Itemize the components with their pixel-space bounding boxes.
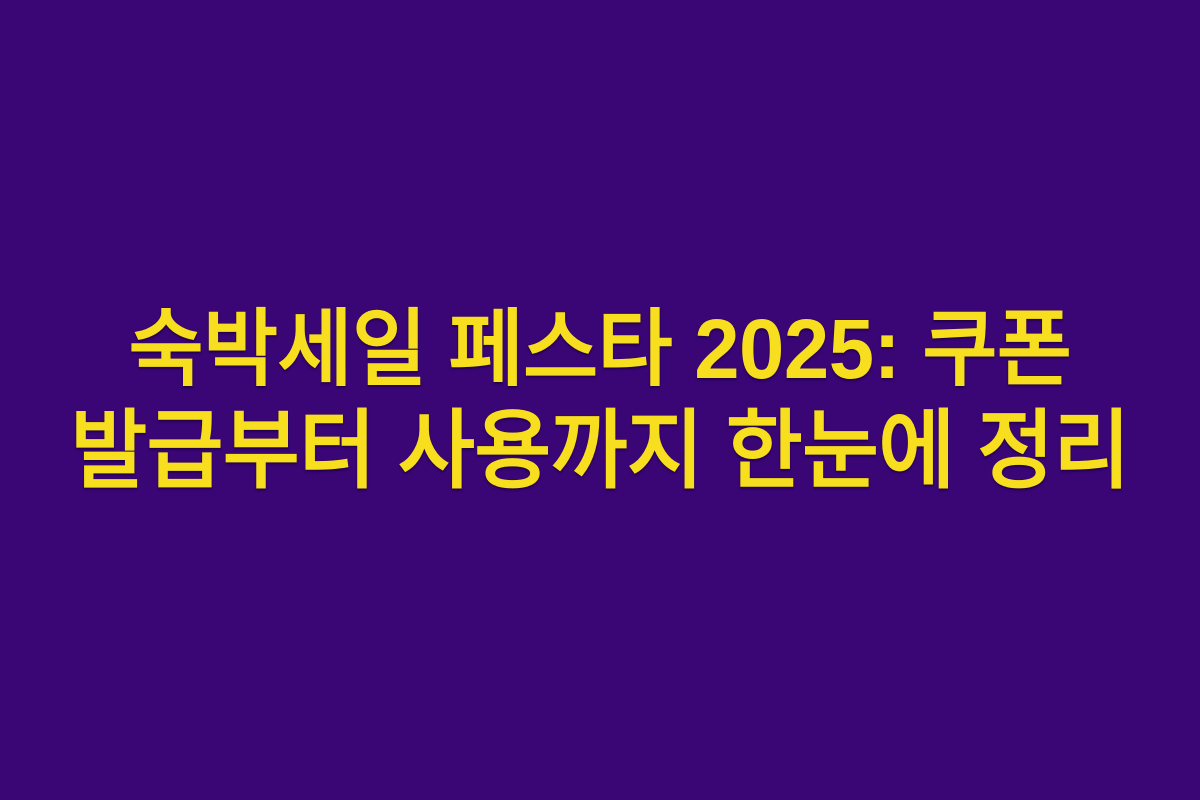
promo-banner: 숙박세일 페스타 2025: 쿠폰 발급부터 사용까지 한눈에 정리 xyxy=(0,0,1200,800)
banner-title-line-2: 발급부터 사용까지 한눈에 정리 xyxy=(70,400,1129,502)
banner-title-block: 숙박세일 페스타 2025: 쿠폰 발급부터 사용까지 한눈에 정리 xyxy=(20,298,1180,502)
banner-title-line-1: 숙박세일 페스타 2025: 쿠폰 xyxy=(129,298,1072,400)
